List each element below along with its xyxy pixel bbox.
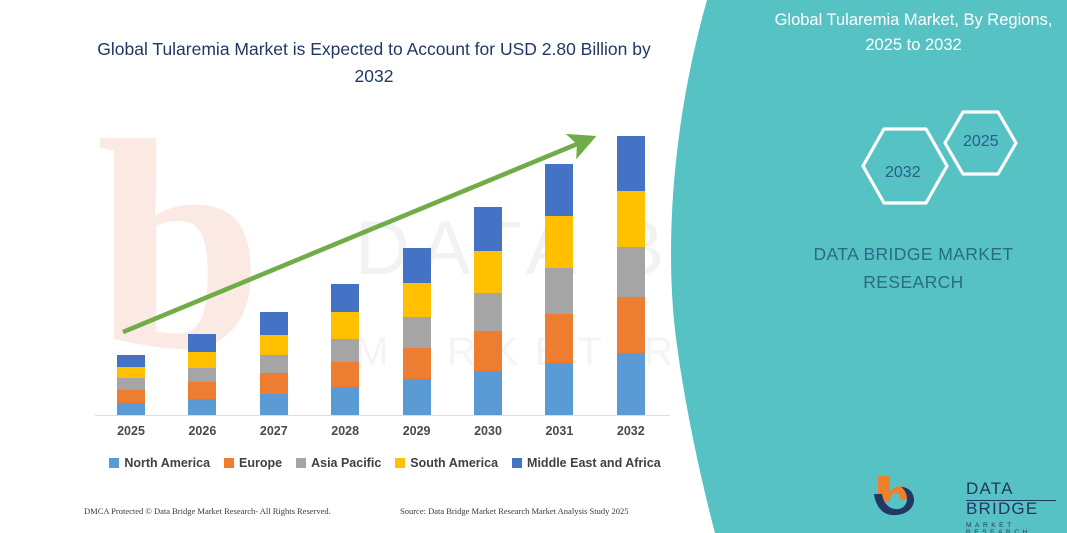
bar-segment	[545, 268, 573, 315]
bar-segment	[545, 314, 573, 362]
legend-label: South America	[410, 456, 498, 470]
bar-2029	[403, 248, 431, 416]
infographic-slide: b DATA BRIDGE MARKET RESEARCH Global Tul…	[0, 0, 1067, 533]
bar-segment	[331, 312, 359, 339]
chart-legend: North AmericaEuropeAsia PacificSouth Ame…	[95, 456, 675, 470]
legend-item-north-america[interactable]: North America	[109, 456, 210, 470]
bar-segment	[403, 248, 431, 284]
legend-item-middle-east-and-africa[interactable]: Middle East and Africa	[512, 456, 661, 470]
legend-item-asia-pacific[interactable]: Asia Pacific	[296, 456, 381, 470]
legend-label: North America	[124, 456, 210, 470]
panel-brand-name: DATA BRIDGE MARKET RESEARCH	[760, 240, 1067, 296]
legend-swatch-icon	[512, 458, 522, 468]
bar-segment	[617, 353, 645, 416]
bar-segment	[403, 283, 431, 317]
bar-segment	[117, 390, 145, 403]
bar-2032	[617, 136, 645, 416]
footer-copyright: DMCA Protected © Data Bridge Market Rese…	[84, 506, 331, 516]
bar-segment	[403, 317, 431, 348]
bar-segment	[474, 207, 502, 251]
bar-segment	[331, 387, 359, 416]
bar-2028	[331, 284, 359, 416]
bar-segment	[403, 348, 431, 380]
bar-segment	[617, 191, 645, 246]
bar-2027	[260, 312, 288, 416]
legend-swatch-icon	[296, 458, 306, 468]
x-label-2029: 2029	[387, 424, 447, 438]
bar-segment	[260, 335, 288, 355]
x-label-2032: 2032	[601, 424, 661, 438]
legend-item-south-america[interactable]: South America	[395, 456, 498, 470]
bar-segment	[545, 216, 573, 267]
bar-segment	[617, 247, 645, 297]
panel-brand-line2: RESEARCH	[760, 268, 1067, 296]
footer: DMCA Protected © Data Bridge Market Rese…	[0, 506, 690, 526]
bar-segment	[260, 373, 288, 394]
bar-segment	[474, 251, 502, 294]
logo-wordmark: DATA BRIDGE MARKET RESEARCH	[966, 479, 1067, 533]
bar-segment	[188, 368, 216, 383]
x-label-2030: 2030	[458, 424, 518, 438]
axis-baseline	[95, 415, 670, 416]
legend-label: Asia Pacific	[311, 456, 381, 470]
panel-title: Global Tularemia Market, By Regions, 202…	[760, 8, 1067, 58]
hexagon-2025-label: 2025	[963, 133, 999, 151]
bar-2026	[188, 334, 216, 416]
bar-segment	[117, 355, 145, 367]
bar-segment	[474, 331, 502, 372]
legend-swatch-icon	[109, 458, 119, 468]
bar-2030	[474, 207, 502, 416]
bar-segment	[474, 293, 502, 331]
legend-item-europe[interactable]: Europe	[224, 456, 282, 470]
logo-subtitle: MARKET RESEARCH	[966, 522, 1067, 533]
footer-source: Source: Data Bridge Market Research Mark…	[400, 506, 629, 516]
logo-divider	[966, 500, 1056, 501]
bar-segment	[474, 371, 502, 416]
bar-segment	[545, 164, 573, 216]
x-label-2031: 2031	[529, 424, 589, 438]
legend-swatch-icon	[224, 458, 234, 468]
stacked-bar-plot	[95, 120, 670, 416]
bar-segment	[117, 378, 145, 390]
hexagon-2032-label: 2032	[885, 164, 921, 182]
panel-brand-line1: DATA BRIDGE MARKET	[760, 240, 1067, 268]
legend-swatch-icon	[395, 458, 405, 468]
bar-2031	[545, 164, 573, 416]
bar-segment	[331, 284, 359, 312]
bar-segment	[331, 339, 359, 362]
bar-2025	[117, 355, 145, 416]
bar-segment	[260, 312, 288, 335]
bar-segment	[260, 394, 288, 416]
x-label-2028: 2028	[315, 424, 375, 438]
bar-segment	[188, 399, 216, 416]
x-label-2027: 2027	[244, 424, 304, 438]
bar-segment	[188, 352, 216, 368]
hexagon-group: 2025 2032	[760, 100, 1067, 215]
logo-name: DATA BRIDGE	[966, 479, 1067, 519]
bar-segment	[545, 363, 573, 416]
bar-segment	[117, 367, 145, 379]
x-label-2025: 2025	[101, 424, 161, 438]
bar-segment	[331, 362, 359, 388]
bar-segment	[617, 297, 645, 352]
bar-segment	[188, 382, 216, 399]
bar-segment	[617, 136, 645, 191]
x-axis-labels: 20252026202720282029203020312032	[95, 424, 670, 444]
x-label-2026: 2026	[172, 424, 232, 438]
bar-segment	[403, 379, 431, 416]
legend-label: Middle East and Africa	[527, 456, 661, 470]
bar-segment	[260, 355, 288, 374]
chart-title: Global Tularemia Market is Expected to A…	[84, 36, 664, 90]
bar-segment	[188, 334, 216, 352]
legend-label: Europe	[239, 456, 282, 470]
